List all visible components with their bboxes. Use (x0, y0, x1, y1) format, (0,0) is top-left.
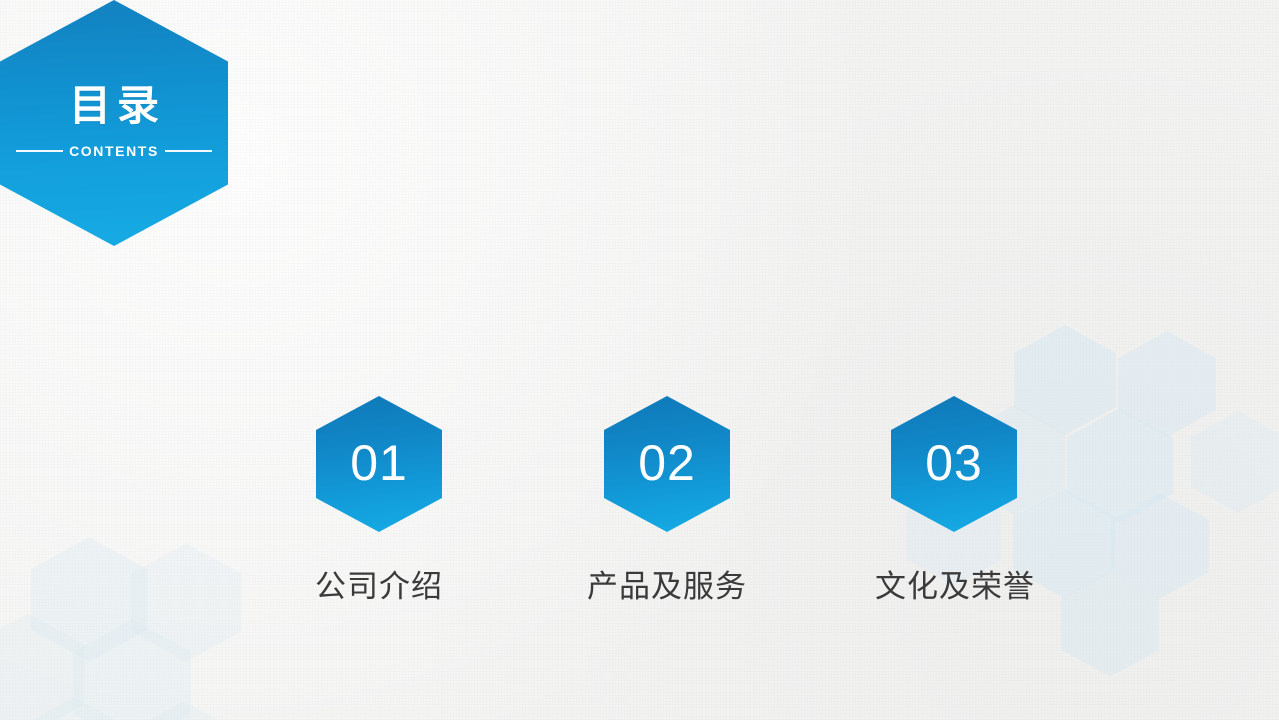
agenda-item-01-number: 01 (350, 438, 408, 488)
agenda-item-02-number: 02 (638, 438, 696, 488)
agenda-item-03-label[interactable]: 文化及荣誉 (852, 561, 1058, 606)
agenda-item-02-hexagon[interactable]: 02 (604, 396, 730, 532)
contents-subtitle: CONTENTS (63, 143, 165, 159)
divider-line-left (16, 150, 63, 152)
decorative-hexagon (1190, 410, 1279, 514)
contents-subtitle-row: CONTENTS (16, 143, 212, 159)
contents-hexagon-badge: 目录 CONTENTS (0, 0, 228, 246)
agenda-item-03-number: 03 (925, 438, 983, 488)
agenda-item-02-label[interactable]: 产品及服务 (564, 561, 770, 606)
contents-title: 目录 (69, 85, 165, 127)
agenda-item-01-label[interactable]: 公司介绍 (288, 561, 470, 606)
slide-canvas: 目录 CONTENTS 01 公司介绍 02 产品及服务 03 文化及荣誉 (0, 0, 1279, 720)
divider-line-right (165, 150, 212, 152)
agenda-item-01-hexagon[interactable]: 01 (316, 396, 442, 532)
